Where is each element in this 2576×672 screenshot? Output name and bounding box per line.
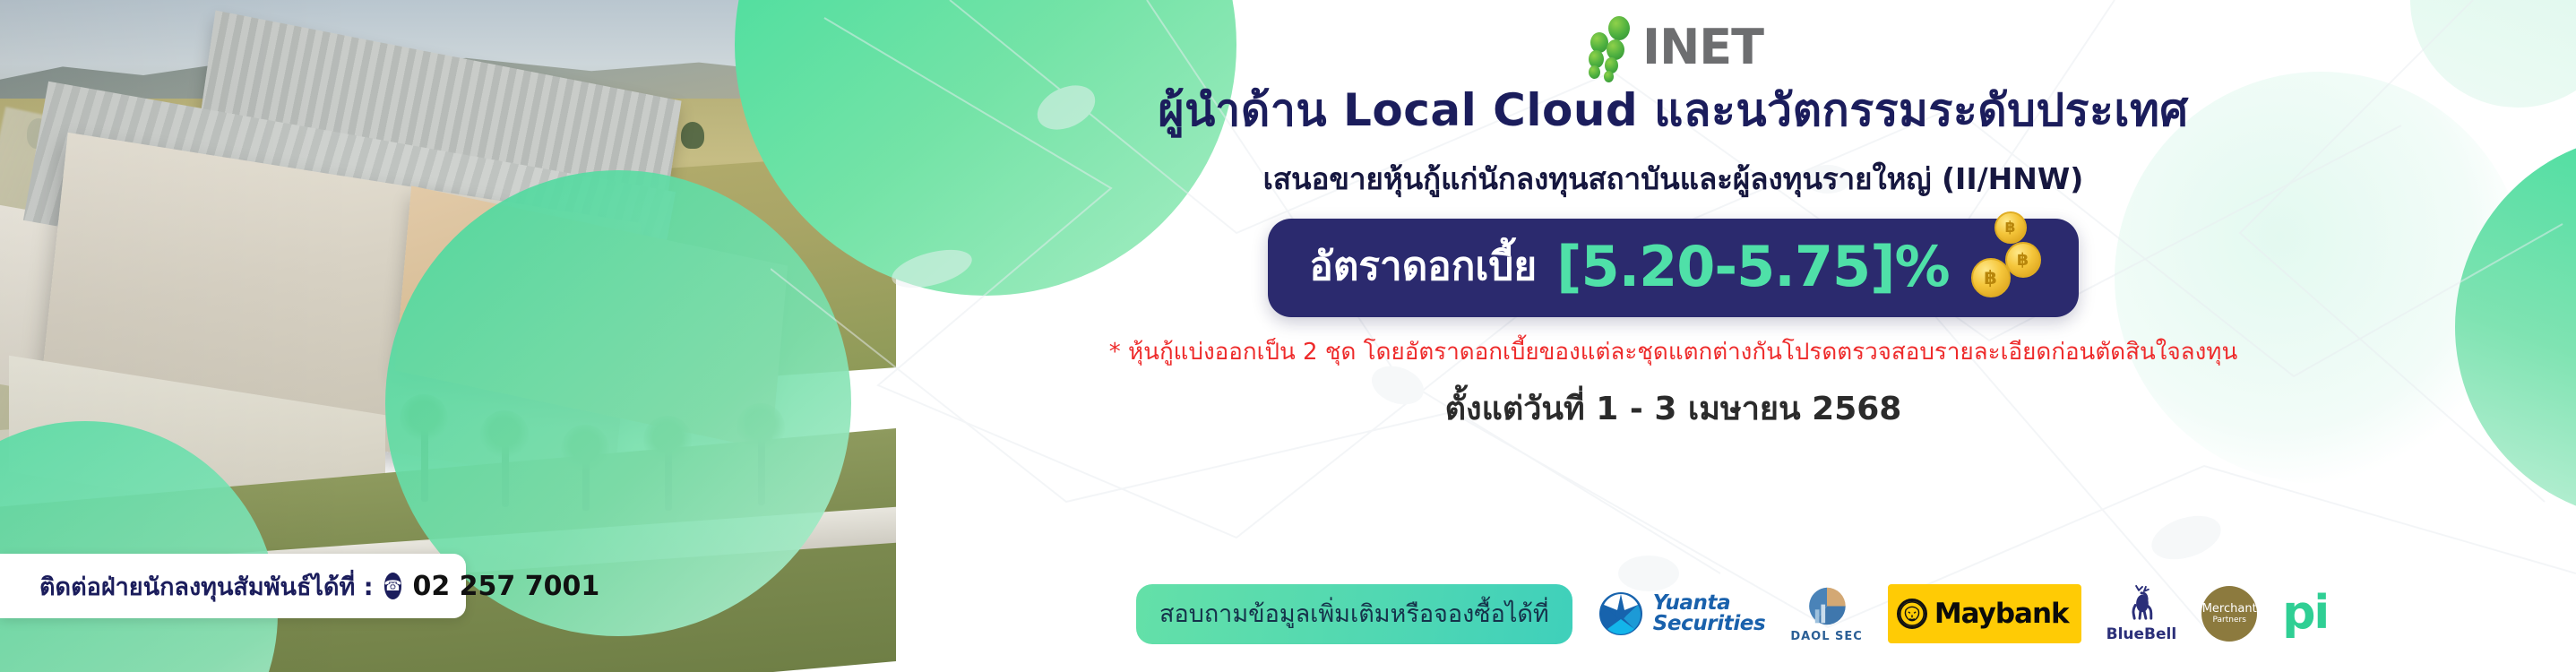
offering-period: ตั้งแต่วันที่ 1 - 3 เมษายน 2568 <box>1445 383 1902 434</box>
page-subtitle: เสนอขายหุ้นกู้แก่นักลงทุนสถาบันและผู้ลงท… <box>1263 155 2084 202</box>
page-title: ผู้นำด้าน Local Cloud และนวัตกรรมระดับปร… <box>1158 75 2188 146</box>
yuanta-mark-icon <box>1598 590 1644 637</box>
pi-wordmark: pi <box>2282 595 2328 633</box>
contact-label: ติดต่อฝ่ายนักลงทุนสัมพันธ์ได้ที่ : <box>39 567 374 606</box>
gold-coins-icon: ฿ ฿ ฿ <box>1969 228 2046 305</box>
coin-top: ฿ <box>1994 211 2027 244</box>
coin-right: ฿ <box>2005 242 2041 278</box>
partner-logo-daol[interactable]: DAOL SEC <box>1790 584 1863 643</box>
contact-phone-number[interactable]: 02 257 7001 <box>412 571 599 602</box>
daol-wordmark: DAOL SEC <box>1790 630 1863 643</box>
inet-logo-text: INET <box>1642 24 1763 70</box>
bluebell-wordmark: BlueBell <box>2106 625 2177 643</box>
partner-logos-row: สอบถามข้อมูลเพิ่มเติมหรือจองซื้อได้ที่ Y… <box>771 581 2576 647</box>
coin-front: ฿ <box>1971 258 2011 297</box>
daol-mark-icon <box>1804 584 1850 628</box>
partner-logo-merchant-partners[interactable]: Merchant Partners <box>2201 584 2257 643</box>
inet-dots-logo-icon <box>1583 14 1639 70</box>
disclaimer-text: * หุ้นกู้แบ่งออกเป็น 2 ชุด โดยอัตราดอกเบ… <box>1109 333 2237 370</box>
inet-logo[interactable]: INET <box>1583 13 1763 70</box>
bluebell-deer-icon <box>2119 584 2164 625</box>
promotional-banner: INET ผู้นำด้าน Local Cloud และนวัตกรรมระ… <box>0 0 2576 672</box>
maybank-wordmark: Maybank <box>1934 598 2069 630</box>
partner-logo-bluebell[interactable]: BlueBell <box>2106 584 2177 643</box>
interest-rate-label: อัตราดอกเบี้ย <box>1309 235 1537 297</box>
interest-rate-value: [5.20-5.75]% <box>1556 234 1949 299</box>
partner-logo-pi[interactable]: pi <box>2282 584 2328 643</box>
investor-relations-contact-bar[interactable]: ติดต่อฝ่ายนักลงทุนสัมพันธ์ได้ที่ : ☎ 02 … <box>0 554 466 618</box>
merchant-partners-badge: Merchant Partners <box>2201 586 2257 642</box>
cta-inquiry-button[interactable]: สอบถามข้อมูลเพิ่มเติมหรือจองซื้อได้ที่ <box>1136 584 1572 644</box>
yuanta-wordmark: Yuanta Securities <box>1653 593 1766 633</box>
maybank-tiger-icon <box>1897 599 1927 629</box>
banner-content: INET ผู้นำด้าน Local Cloud และนวัตกรรมระ… <box>771 0 2576 672</box>
interest-rate-box: อัตราดอกเบี้ย [5.20-5.75]% ฿ ฿ ฿ <box>1268 219 2078 317</box>
partner-logo-yuanta[interactable]: Yuanta Securities <box>1598 584 1766 643</box>
phone-icon: ☎ <box>384 573 402 599</box>
partner-logo-maybank[interactable]: Maybank <box>1888 584 2081 643</box>
